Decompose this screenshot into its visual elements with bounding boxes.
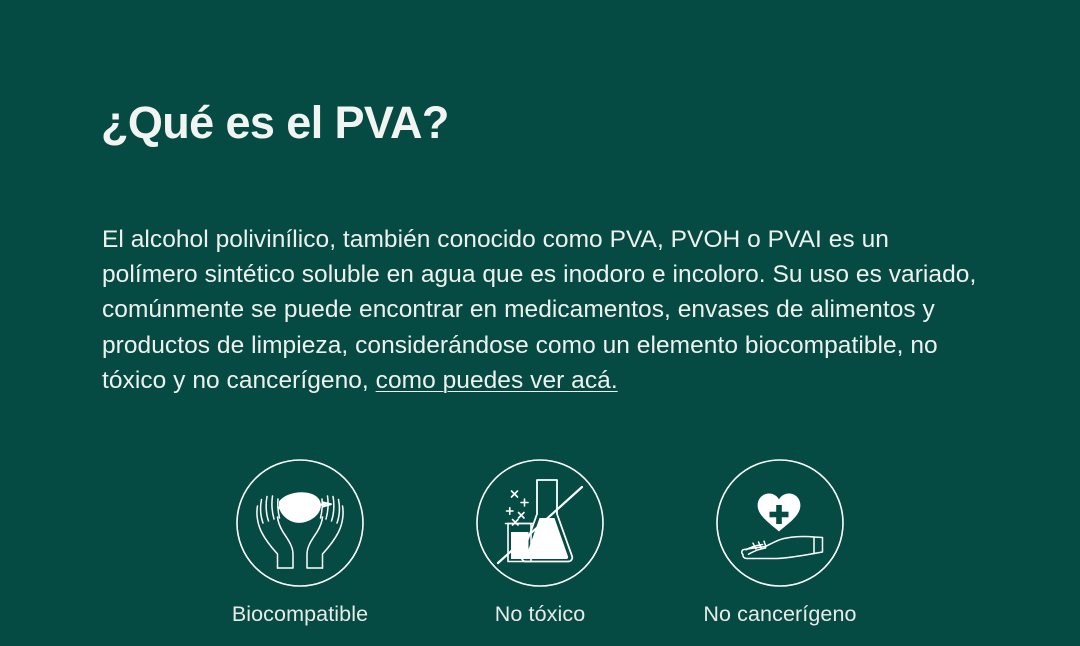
feature-item-no-cancerigeno: No cancerígeno: [660, 458, 900, 627]
feature-list: Biocompatible: [180, 458, 900, 627]
feature-label-no-cancerigeno: No cancerígeno: [703, 602, 856, 627]
feature-label-no-toxico: No tóxico: [495, 602, 586, 627]
more-info-link[interactable]: como puedes ver acá.: [376, 367, 618, 394]
hands-holding-leaf-icon: [235, 458, 365, 588]
body-paragraph: El alcohol polivinílico, también conocid…: [102, 222, 982, 398]
pva-info-section: ¿Qué es el PVA? El alcohol polivinílico,…: [0, 0, 1080, 646]
feature-item-no-toxico: No tóxico: [420, 458, 660, 627]
feature-item-biocompatible: Biocompatible: [180, 458, 420, 627]
page-title: ¿Qué es el PVA?: [101, 98, 449, 148]
no-toxic-flask-icon: [475, 458, 605, 588]
feature-label-biocompatible: Biocompatible: [232, 602, 368, 627]
hand-holding-heart-plus-icon: [715, 458, 845, 588]
